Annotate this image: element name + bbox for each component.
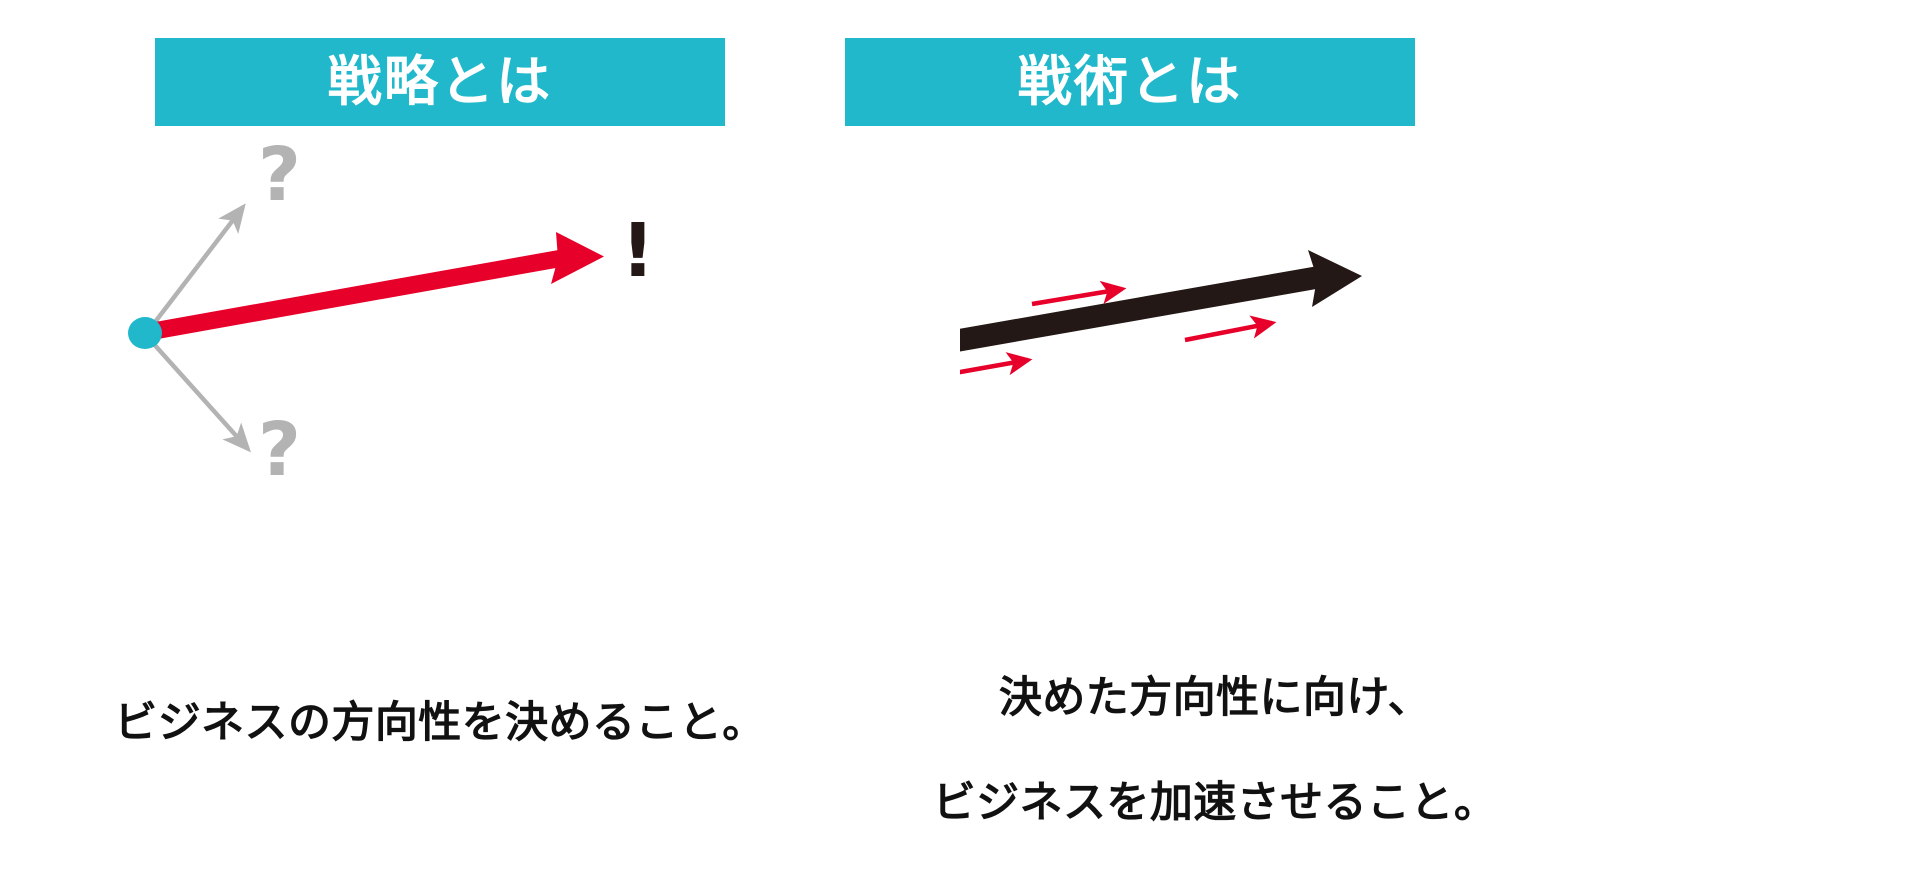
speed-arrow-2 xyxy=(1032,289,1122,304)
caption-strategy: ビジネスの方向性を決めること。 xyxy=(60,645,820,802)
caption-tactics: 決めた方向性に向け、 ビジネスを加速させること。 xyxy=(835,620,1595,882)
question-mark-upper: ? xyxy=(258,138,301,212)
caption-tactics-line-1: 決めた方向性に向け、 xyxy=(835,672,1595,724)
caption-strategy-line-1: ビジネスの方向性を決めること。 xyxy=(60,697,820,749)
option-arrow-upper xyxy=(152,207,243,326)
caption-tactics-line-2: ビジネスを加速させること。 xyxy=(835,777,1595,829)
exclamation-mark: ! xyxy=(621,214,655,288)
option-arrow-lower xyxy=(152,342,248,449)
diagram-canvas: 戦略とは ? ? ! ビジネスの方向性を決めること。 xyxy=(0,0,1920,802)
chosen-direction-arrow xyxy=(155,232,604,339)
panel-strategy: 戦略とは ? ? ! ビジネスの方向性を決めること。 xyxy=(0,0,960,802)
question-mark-lower: ? xyxy=(258,413,301,487)
origin-dot-strategy xyxy=(128,317,162,349)
speed-arrow-1 xyxy=(960,360,1028,376)
panel-tactics: 戦術とは 決めた方向性に向け、 ビジネスを加速させること。 xyxy=(960,0,1920,802)
direction-arrow-tactics xyxy=(960,250,1362,362)
speed-arrow-3 xyxy=(1185,323,1272,340)
